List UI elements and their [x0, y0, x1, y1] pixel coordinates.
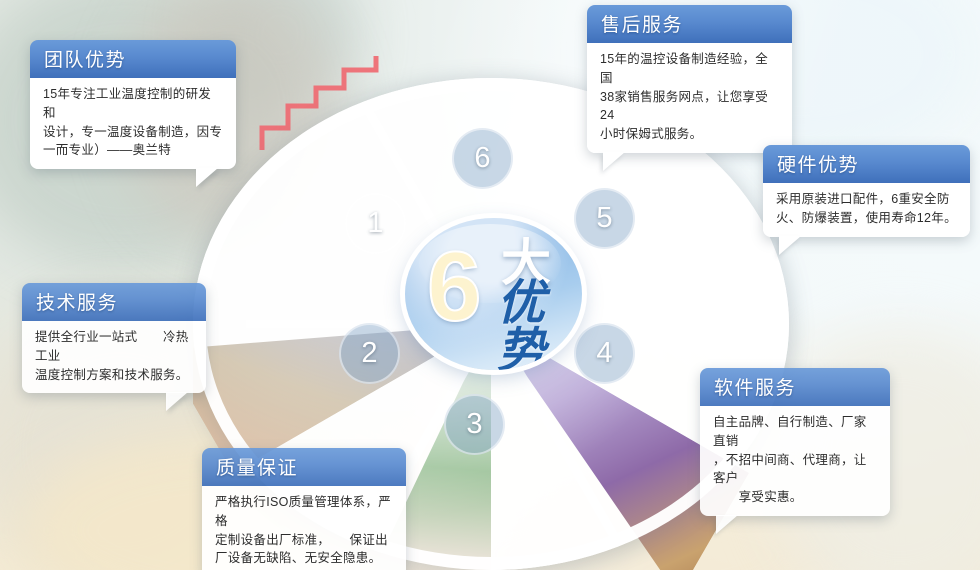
badge-4[interactable]: 4 [574, 323, 635, 384]
six-advantages-emblem: 6 大 优势 [405, 218, 582, 370]
badge-2[interactable]: 2 [339, 323, 400, 384]
callout-aftersales[interactable]: 售后服务 15年的温控设备制造经验，全国 38家销售服务网点，让您享受24 小时… [587, 5, 792, 153]
callout-tail-icon [166, 392, 188, 411]
callout-hardware[interactable]: 硬件优势 采用原装进口配件，6重安全防 火、防爆装置，使用寿命12年。 [763, 145, 970, 237]
callout-tail-icon [603, 152, 625, 171]
badge-1[interactable]: 1 [345, 193, 406, 254]
callout-hardware-title: 硬件优势 [763, 145, 970, 183]
infographic-canvas: 1 2 3 4 5 6 6 大 优势 团队优势 15年专注工业温度控制的研发和 … [0, 0, 980, 570]
emblem-number: 6 [427, 242, 482, 330]
emblem-word: 优势 [497, 280, 582, 370]
callout-technical[interactable]: 技术服务 提供全行业一站式 冷热工业 温度控制方案和技术服务。 [22, 283, 206, 393]
callout-quality-body: 严格执行ISO质量管理体系，严格 定制设备出厂标准， 保证出 厂设备无缺陷、无安… [202, 486, 406, 570]
callout-software-body: 自主品牌、自行制造、厂家直销 ，不招中间商、代理商，让客户 享受实惠。 [700, 406, 890, 516]
callout-tail-icon [716, 515, 738, 534]
callout-technical-title: 技术服务 [22, 283, 206, 321]
callout-quality-title: 质量保证 [202, 448, 406, 486]
badge-6[interactable]: 6 [452, 128, 513, 189]
callout-hardware-body: 采用原装进口配件，6重安全防 火、防爆装置，使用寿命12年。 [763, 183, 970, 237]
callout-team-body: 15年专注工业温度控制的研发和 设计，专一温度设备制造，因专 一而专业）——奥兰… [30, 78, 236, 169]
callout-software[interactable]: 软件服务 自主品牌、自行制造、厂家直销 ，不招中间商、代理商，让客户 享受实惠。 [700, 368, 890, 516]
badge-5[interactable]: 5 [574, 188, 635, 249]
callout-team-title: 团队优势 [30, 40, 236, 78]
callout-aftersales-title: 售后服务 [587, 5, 792, 43]
callout-aftersales-body: 15年的温控设备制造经验，全国 38家销售服务网点，让您享受24 小时保姆式服务… [587, 43, 792, 153]
badge-3[interactable]: 3 [444, 394, 505, 455]
callout-quality[interactable]: 质量保证 严格执行ISO质量管理体系，严格 定制设备出厂标准， 保证出 厂设备无… [202, 448, 406, 570]
callout-tail-icon [779, 236, 801, 255]
callout-technical-body: 提供全行业一站式 冷热工业 温度控制方案和技术服务。 [22, 321, 206, 393]
callout-software-title: 软件服务 [700, 368, 890, 406]
callout-team[interactable]: 团队优势 15年专注工业温度控制的研发和 设计，专一温度设备制造，因专 一而专业… [30, 40, 236, 169]
callout-tail-icon [196, 168, 218, 187]
